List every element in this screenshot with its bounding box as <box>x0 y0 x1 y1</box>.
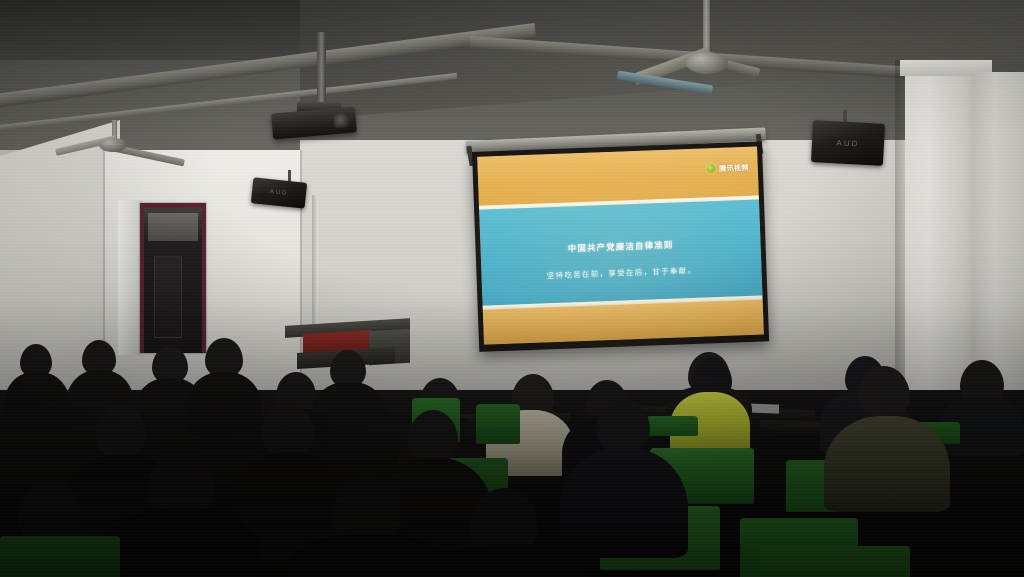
slide-title: 中国共产党廉洁自律准则 <box>568 239 674 255</box>
head <box>408 410 458 464</box>
tencent-video-logo-icon <box>707 164 716 173</box>
head <box>858 366 910 420</box>
slide-content-band: 中国共产党廉洁自律准则 坚持吃苦在前，享受在后，甘于奉献。 <box>479 199 762 305</box>
olive-coat-torso <box>824 416 950 512</box>
screen-surface: 腾讯视频 中国共产党廉洁自律准则 坚持吃苦在前，享受在后，甘于奉献。 <box>477 147 764 345</box>
presentation-slide: 腾讯视频 中国共产党廉洁自律准则 坚持吃苦在前，享受在后，甘于奉献。 <box>477 147 764 345</box>
fan-motor-housing <box>686 52 728 74</box>
wall-speaker-right: AUD <box>811 120 885 166</box>
brand-text: 腾讯视频 <box>719 163 749 174</box>
speaker-label: AUD <box>812 137 884 150</box>
audience-seating-area <box>0 330 1024 577</box>
speaker-label: AUD <box>252 188 306 200</box>
door-transom <box>148 213 198 241</box>
wall-speaker-left: AUD <box>251 177 307 209</box>
chair-back[interactable] <box>760 546 910 577</box>
torso <box>186 372 262 436</box>
black-jacket-torso <box>560 448 688 558</box>
wall-edge-highlight <box>312 195 318 325</box>
chair-back[interactable] <box>0 536 120 577</box>
brand-watermark: 腾讯视频 <box>707 163 749 175</box>
projector-mount-pole <box>317 32 326 108</box>
projection-screen[interactable]: 腾讯视频 中国共产党廉洁自律准则 坚持吃苦在前，享受在后，甘于奉献。 <box>472 141 769 351</box>
chair-back[interactable] <box>646 416 698 436</box>
slide-subtitle: 坚持吃苦在前，享受在后，甘于奉献。 <box>547 265 697 281</box>
head <box>596 398 650 454</box>
door-panel <box>154 256 182 338</box>
chair-back[interactable] <box>476 404 520 444</box>
fan-motor-housing <box>99 138 127 152</box>
lecture-hall-photo: AUD AUD 腾讯视频 中国共产党廉洁自律准则 坚持吃苦在前，享受在后，甘于 <box>0 0 1024 577</box>
projector-lens-icon <box>333 113 350 128</box>
head <box>262 402 314 458</box>
torso <box>4 372 70 430</box>
head <box>96 404 146 458</box>
